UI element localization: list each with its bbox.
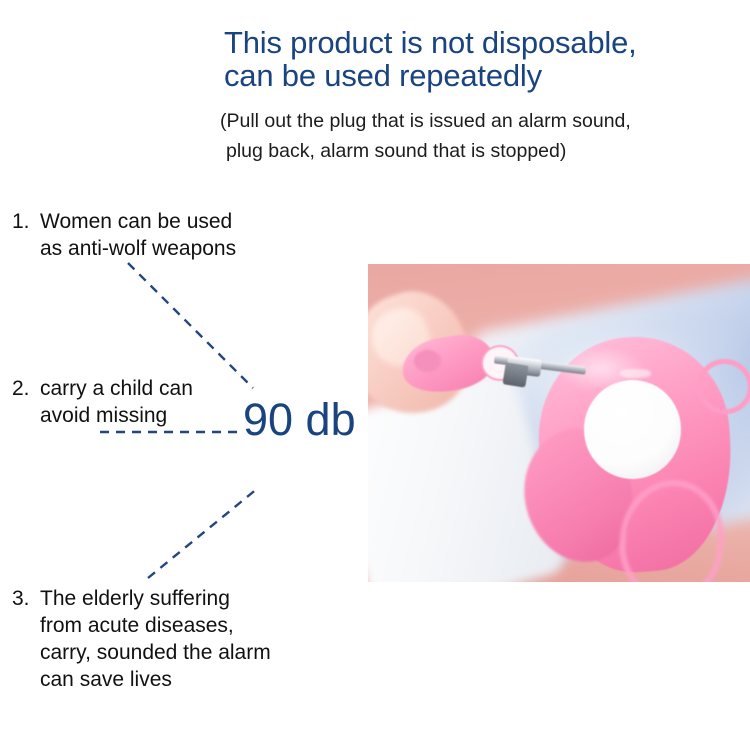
feature-number-1: 1. [12, 208, 30, 235]
feature-item-2: 2. carry a child can avoid missing [12, 375, 193, 429]
feature-item-1: 1. Women can be used as anti-wolf weapon… [12, 208, 236, 262]
subtitle-line-2: plug back, alarm sound that is stopped) [220, 136, 750, 166]
feature-text-3: The elderly suffering from acute disease… [12, 585, 271, 693]
connector-line-3 [148, 488, 258, 578]
subtitle-line-1: (Pull out the plug that is issued an ala… [220, 106, 750, 136]
feature-3-line-1: The elderly suffering [40, 585, 271, 612]
headline-line-1: This product is not disposable, [224, 26, 744, 59]
connector-line-1 [128, 263, 253, 388]
feature-2-line-1: carry a child can [40, 375, 193, 402]
feature-number-2: 2. [12, 375, 30, 402]
decibel-callout: 90 db [243, 396, 356, 444]
feature-1-line-1: Women can be used [40, 208, 236, 235]
feature-3-line-4: can save lives [40, 666, 271, 693]
feature-text-2: carry a child can avoid missing [12, 375, 193, 429]
feature-number-3: 3. [12, 585, 30, 612]
product-photo [368, 264, 750, 582]
feature-3-line-2: from acute diseases, [40, 612, 271, 639]
feature-item-3: 3. The elderly suffering from acute dise… [12, 585, 271, 693]
feature-text-1: Women can be used as anti-wolf weapons [12, 208, 236, 262]
page-title: This product is not disposable, can be u… [224, 26, 744, 92]
feature-3-line-3: carry, sounded the alarm [40, 639, 271, 666]
infographic-canvas: This product is not disposable, can be u… [0, 0, 750, 750]
alarm-button [584, 380, 681, 479]
alarm-plug-nub [414, 350, 441, 372]
feature-1-line-2: as anti-wolf weapons [40, 235, 236, 262]
metal-pin-clip [502, 363, 528, 389]
product-photo-content [368, 264, 750, 582]
headline-line-2: can be used repeatedly [224, 59, 744, 92]
page-subtitle: (Pull out the plug that is issued an ala… [220, 106, 750, 166]
feature-2-line-2: avoid missing [40, 402, 193, 429]
